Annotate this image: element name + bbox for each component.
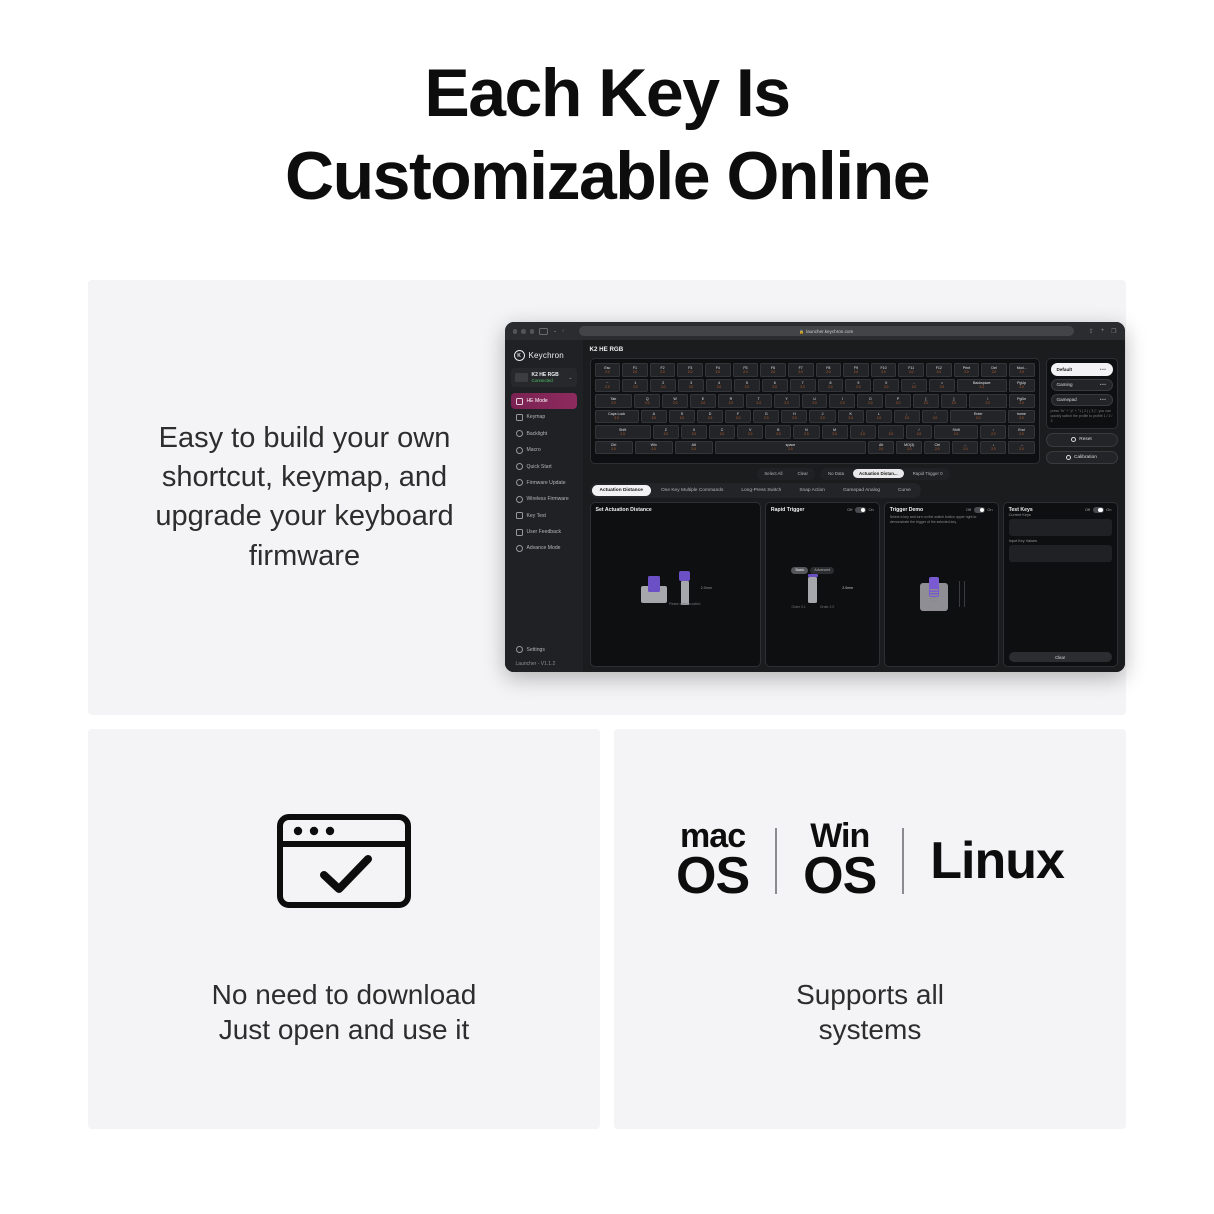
keyboard-key[interactable]: Ctrl2.0 [595,441,633,455]
os-logo-winos: Win OS [777,821,902,900]
tabs-icon[interactable]: ❐ [1111,328,1116,335]
macos-suffix: OS [676,853,749,901]
quick-start-icon [516,463,523,470]
brand-logo: K Keychron [511,347,577,368]
key-actuation-value: 2.0 [633,371,637,374]
winos-suffix: OS [803,853,876,901]
keyboard-key[interactable]: ~2.0 [595,379,621,393]
keyboard-key[interactable]: O2.0 [857,394,883,408]
keyboard-key[interactable]: W2.0 [662,394,688,408]
keyboard-key[interactable]: -2.0 [901,379,927,393]
keyboard-key[interactable]: '2.0 [922,410,948,424]
keyboard-key[interactable]: Shift2.0 [595,425,651,439]
keyboard-key[interactable]: F52.0 [733,363,759,377]
gear-icon [516,646,523,653]
keyboard-key[interactable]: B2.0 [765,425,791,439]
keyboard-layout[interactable]: Esc2.0F12.0F22.0F32.0F42.0F52.0F62.0F72.… [590,358,1040,464]
key-actuation-value: 2.0 [720,433,724,436]
key-actuation-value: 2.0 [748,433,752,436]
current-keys-field[interactable] [1009,519,1112,536]
rapid-trigger-footer: Order 0.1 Order 2.0 [791,605,834,609]
card-supports-all-systems: mac OS Win OS Linux Supports all systems [614,729,1126,1129]
device-selector[interactable]: K2 HE RGB Connected ⌄ [511,368,577,387]
data-group: No Data Actuation Distan... Rapid Trigge… [820,468,950,480]
mode-basic[interactable]: Basic [791,567,808,574]
key-actuation-value: 2.0 [963,448,967,451]
input-key-values-field[interactable] [1009,545,1112,562]
key-actuation-value: 2.0 [792,417,796,420]
rapid-trigger-modes: Basic Advanced [791,567,834,574]
keyboard-key[interactable]: F82.0 [816,363,842,377]
sidebar-item-user-feedback[interactable]: User Feedback [511,524,577,539]
trigger-demo-switch-illustration [917,577,951,611]
chevron-down-icon[interactable]: ⌄ [553,328,557,334]
caption-line-2: systems [796,1012,944,1047]
keyboard-key[interactable]: Caps Lock2.0 [595,410,639,424]
rail [959,581,960,607]
rapid-trigger-value: 2.0mm [842,586,853,590]
key-actuation-value: 2.0 [1019,448,1023,451]
keyboard-key[interactable]: ,2.0 [850,425,876,439]
firmware-update-icon [516,479,523,486]
user-feedback-icon [516,529,523,536]
switch-travel-illustration[interactable]: Please select a switch [677,571,693,605]
os-logos: mac OS Win OS Linux [650,811,1090,911]
rail [964,581,965,607]
key-actuation-value: 2.0 [633,386,637,389]
keyboard-key[interactable]: /2.0 [906,425,932,439]
device-info: K2 HE RGB Connected [532,372,565,384]
key-test-icon [516,512,523,519]
device-status: Connected [532,378,553,383]
panel-trigger-demo: Trigger Demo Off On Select a key and tur… [884,502,999,668]
sidebar-item-quick-start[interactable]: Quick Start [511,459,577,474]
tab-snap-action[interactable]: Snap Action [791,485,833,496]
keyboard-row: Esc2.0F12.0F22.0F32.0F42.0F52.0F62.0F72.… [595,363,1035,377]
keyboard-key[interactable]: 42.0 [706,379,732,393]
key-actuation-value: 2.0 [856,386,860,389]
key-actuation-value: 2.0 [689,386,693,389]
keyboard-key[interactable]: 22.0 [650,379,676,393]
key-actuation-value: 2.0 [717,386,721,389]
key-actuation-value: 2.0 [729,402,733,405]
sidebar-item-keymap[interactable]: Keymap [511,410,577,425]
key-actuation-value: 2.0 [937,371,941,374]
key-actuation-value: 2.0 [798,371,802,374]
keyboard-key[interactable]: K2.0 [838,410,864,424]
browser-window-check-icon [274,811,414,911]
key-actuation-value: 2.0 [692,448,696,451]
keyboard-key[interactable]: M2.0 [822,425,848,439]
keyboard-key[interactable]: D2.0 [697,410,723,424]
toggle-off-label: Off [966,507,971,512]
key-actuation-value: 2.0 [788,448,792,451]
keyboard-row: Tab2.0Q2.0W2.0E2.0R2.0T2.0Y2.0U2.0I2.0O2… [595,394,1035,408]
calibration-icon [1066,455,1071,460]
keyboard-key[interactable]: ↓2.0 [980,441,1006,455]
reset-button[interactable]: Reset [1046,433,1118,446]
keychron-logo-icon: K [514,350,525,361]
key-actuation-value: 2.0 [764,417,768,420]
keymap-icon [516,414,523,421]
key-actuation-value: 2.0 [1019,371,1023,374]
toggle-on-label: On [1106,507,1111,512]
actuation-caption: Please select a switch [669,602,700,606]
key-actuation-value: 2.0 [645,402,649,405]
actuation-value: 2.0mm [701,586,712,590]
key-actuation-value: 2.0 [708,417,712,420]
keyboard-key[interactable]: F122.0 [926,363,952,377]
keyboard-key[interactable]: 92.0 [845,379,871,393]
profile-label: Default [1057,367,1073,372]
rapid-trigger-control: Basic Advanced Order 0.1 Order 2.0 [791,567,834,609]
chevron-down-icon[interactable]: ⌄ [568,375,572,381]
panel-body: Please select a switch 2.0mm [596,513,755,663]
keyboard-toolbar: Select All Clear No Data Actuation Dista… [590,468,1118,480]
keyboard-key[interactable]: X2.0 [681,425,707,439]
calibration-label: Calibration [1074,455,1097,460]
share-icon[interactable]: ⇪ [1089,328,1094,335]
keyboard-key[interactable]: \2.0 [969,394,1007,408]
maximize-icon[interactable] [530,329,535,334]
keyboard-key[interactable]: PgUp2.0 [1009,379,1035,393]
keyboard-key[interactable]: E2.0 [690,394,716,408]
minimize-icon[interactable] [521,329,526,334]
keyboard-key[interactable]: Win2.0 [635,441,673,455]
keyboard-key[interactable]: Del2.0 [981,363,1007,377]
app-version: Launcher - V1.1.2 [511,657,577,667]
device-name: K2 HE RGB [532,372,559,378]
current-keys-label: Current Keys [1009,513,1112,517]
key-actuation-value: 2.0 [986,402,990,405]
selection-group: Select All Clear [757,468,816,480]
caption-line-1: Supports all [796,977,944,1012]
key-actuation-value: 2.0 [661,386,665,389]
panel-header: Trigger Demo Off On [890,507,993,513]
key-actuation-value: 2.0 [812,402,816,405]
clear-selection-button[interactable]: Clear [791,469,814,478]
key-actuation-value: 2.0 [954,433,958,436]
window-controls[interactable] [513,329,535,334]
feature-tabs: Actuation Distance One Key Multiple Comm… [590,483,921,498]
lock-icon: 🔒 [799,329,804,334]
promo-text: Easy to build your own shortcut, keymap,… [88,419,503,576]
keyboard-key[interactable]: Mod...2.0 [1009,363,1035,377]
keyboard-key[interactable]: S2.0 [669,410,695,424]
keyboard-key[interactable]: F2.0 [725,410,751,424]
key-actuation-value: 2.0 [917,433,921,436]
key-actuation-value: 2.0 [776,433,780,436]
profile-label: Gaming [1057,382,1073,387]
key-actuation-value: 2.0 [1019,433,1023,436]
feature-panels: Set Actuation Distance Pl [590,502,1118,668]
toggle-switch[interactable] [1093,507,1104,513]
tab-one-key-multiple-commands[interactable]: One Key Multiple Commands [653,485,731,496]
app-main: K2 HE RGB Esc2.0F12.0F22.0F32.0F42.0F52.… [583,340,1125,672]
page-title-line-1: Each Key Is [40,52,1174,135]
os-logo-macos: mac OS [650,821,775,900]
key-actuation-value: 2.0 [964,371,968,374]
keyboard-key[interactable]: ←2.0 [952,441,978,455]
input-key-values-label: Input Key Values [1009,539,1112,543]
keyboard-row: Caps Lock2.0A2.0S2.0D2.0F2.0G2.0H2.0J2.0… [595,410,1035,424]
sidebar-item-label: Quick Start [527,464,552,470]
key-actuation-value: 2.0 [743,371,747,374]
keyboard-key[interactable]: Ctrl2.0 [924,441,950,455]
keyboard-key[interactable]: 12.0 [622,379,648,393]
key-actuation-value: 2.0 [848,417,852,420]
key-actuation-value: 2.0 [620,433,624,436]
keyboard-key[interactable]: F102.0 [871,363,897,377]
key-actuation-value: 2.0 [896,402,900,405]
key-actuation-value: 2.0 [877,417,881,420]
app-body: K Keychron K2 HE RGB Connected ⌄ [505,340,1125,672]
key-actuation-value: 2.0 [745,386,749,389]
keyboard-key[interactable]: Z2.0 [653,425,679,439]
toggle-switch[interactable] [974,507,985,513]
select-all-button[interactable]: Select All [758,469,788,478]
app-sidebar: K Keychron K2 HE RGB Connected ⌄ [505,340,583,672]
sidebar-item-label: HE Mode [527,398,548,404]
key-actuation-value: 2.0 [772,386,776,389]
keyboard-key[interactable]: 82.0 [818,379,844,393]
keyboard-key[interactable]: 72.0 [790,379,816,393]
keyboard-key[interactable]: MO(3)2.0 [896,441,922,455]
profile-item-default[interactable]: Default ••• [1051,363,1113,375]
reset-label: Reset [1079,437,1092,442]
keyboard-key[interactable]: R2.0 [718,394,744,408]
key-actuation-value: 2.0 [652,417,656,420]
sidebar-item-label: User Feedback [527,529,562,535]
key-actuation-value: 2.0 [909,371,913,374]
key-actuation-value: 2.0 [757,402,761,405]
profile-item-gaming[interactable]: Gaming ••• [1051,379,1113,391]
keyboard-key[interactable]: N2.0 [793,425,819,439]
sidebar-item-key-test[interactable]: Key Test [511,508,577,523]
tab-actuation-distance[interactable]: Actuation Distance [592,485,651,496]
panel-set-actuation-distance: Set Actuation Distance Pl [590,502,761,668]
key-actuation-value: 2.0 [940,386,944,389]
actuation-chip[interactable]: Actuation Distan... [853,469,904,478]
key-actuation-value: 2.0 [991,448,995,451]
page-title-line-2: Customizable Online [40,135,1174,218]
keyboard-key[interactable]: ↑2.0 [980,425,1006,439]
key-actuation-value: 2.0 [605,371,609,374]
chevron-left-icon[interactable]: ‹ [562,328,564,334]
keyboard-key[interactable]: space2.0 [715,441,866,455]
foot-left-label: Order 0.1 [791,605,805,609]
keyboard-key[interactable]: .2.0 [878,425,904,439]
switch-stem [648,576,660,592]
key-actuation-value: 2.0 [688,371,692,374]
url-text: launcher.keychron.com [806,329,853,334]
tab-curve[interactable]: Curve [890,485,919,496]
device-thumbnail-icon [515,373,528,382]
switch-cap [679,571,690,581]
keyboard-key[interactable]: Print2.0 [954,363,980,377]
mode-advanced[interactable]: Advanced [810,567,834,574]
sidebar-item-label: Key Test [527,513,546,519]
keyboard-key[interactable]: Q2.0 [634,394,660,408]
card-caption: Supports all systems [796,977,944,1047]
keyboard-key[interactable]: I2.0 [829,394,855,408]
key-actuation-value: 2.0 [991,433,995,436]
backlight-icon [516,430,523,437]
keyboard-key[interactable]: Alt2.0 [868,441,894,455]
keyboard-key[interactable]: End2.0 [1008,425,1034,439]
profile-menu-icon[interactable]: ••• [1100,382,1107,387]
advance-mode-icon [516,545,523,552]
he-mode-icon [516,398,523,405]
keyboard-key[interactable]: ]2.0 [941,394,967,408]
sidebar-nav: HE Mode Keymap Backlight Macro [511,393,577,556]
profile-menu-icon[interactable]: ••• [1100,397,1107,402]
keyboard-key[interactable]: 02.0 [873,379,899,393]
key-actuation-value: 2.0 [611,448,615,451]
keyboard-key[interactable]: P2.0 [885,394,911,408]
sidebar-item-he-mode[interactable]: HE Mode [511,393,577,408]
keyboard-row: Shift2.0Z2.0X2.0C2.0V2.0B2.0N2.0M2.0,2.0… [595,425,1035,439]
keyboard-area: Esc2.0F12.0F22.0F32.0F42.0F52.0F62.0F72.… [590,358,1118,464]
sidebar-item-backlight[interactable]: Backlight [511,426,577,441]
panel-body [890,525,993,662]
no-data-chip[interactable]: No Data [822,469,850,478]
rapid-trigger-chip[interactable]: Rapid Trigger 0 [907,469,949,478]
key-actuation-value: 2.0 [832,433,836,436]
keyboard-key[interactable]: F92.0 [843,363,869,377]
key-actuation-value: 2.0 [980,386,984,389]
keyboard-key[interactable]: F42.0 [705,363,731,377]
sidebar-item-wireless-firmware[interactable]: Wireless Firmware [511,492,577,507]
panel-title: Trigger Demo [890,507,923,513]
sidebar-item-label: Firmware Update [527,480,566,486]
keyboard-key[interactable]: F112.0 [898,363,924,377]
keyboard-key[interactable]: U2.0 [802,394,828,408]
switch-spring [930,589,938,603]
keyboard-key[interactable]: G2.0 [753,410,779,424]
trigger-demo-description: Select a key and turn on the switch butt… [890,515,993,525]
sidebar-item-advance-mode[interactable]: Advance Mode [511,541,577,556]
key-actuation-value: 2.0 [673,402,677,405]
sidebar-item-label: Backlight [527,431,548,437]
key-actuation-value: 2.0 [716,371,720,374]
page-title: Each Key Is Customizable Online [0,0,1214,218]
keyboard-key[interactable]: Backspace2.0 [957,379,1007,393]
keyboard-key[interactable]: F32.0 [677,363,703,377]
keyboard-key[interactable]: A2.0 [641,410,667,424]
caption-line-1: No need to download [212,977,477,1012]
test-keys-clear-button[interactable]: Clear [1009,652,1112,662]
key-actuation-value: 2.0 [736,417,740,420]
keyboard-key[interactable]: →2.0 [1008,441,1034,455]
key-actuation-value: 2.0 [804,433,808,436]
card-no-download: No need to download Just open and use it [88,729,600,1129]
sidebar-toggle-icon[interactable] [539,328,548,335]
main-title: K2 HE RGB [590,346,1118,353]
toggle-on-label: On [868,507,873,512]
key-actuation-value: 2.0 [933,417,937,420]
tab-long-press-switch[interactable]: Long-Press Switch [733,485,789,496]
key-actuation-value: 2.0 [854,371,858,374]
key-actuation-value: 2.0 [868,402,872,405]
keyboard-key[interactable]: F22.0 [650,363,676,377]
key-actuation-value: 2.0 [935,448,939,451]
key-actuation-value: 2.0 [905,417,909,420]
card-caption: No need to download Just open and use it [212,977,477,1047]
sidebar-item-firmware-update[interactable]: Firmware Update [511,475,577,490]
profile-menu-icon[interactable]: ••• [1100,367,1107,372]
keyboard-key[interactable]: Shift2.0 [934,425,978,439]
key-actuation-value: 2.0 [861,433,865,436]
key-actuation-value: 2.0 [826,371,830,374]
profile-item-gamepad[interactable]: Gamepad ••• [1051,394,1113,406]
keyboard-key[interactable]: 32.0 [678,379,704,393]
key-actuation-value: 2.0 [680,417,684,420]
keyboard-key[interactable]: Enter2.0 [950,410,1006,424]
keyboard-key[interactable]: V2.0 [737,425,763,439]
macro-icon [516,447,523,454]
keyboard-key[interactable]: Y2.0 [774,394,800,408]
keyboard-key[interactable]: Alt2.0 [675,441,713,455]
keyboard-row: Ctrl2.0Win2.0Alt2.0space2.0Alt2.0MO(3)2.… [595,441,1035,455]
url-bar[interactable]: 🔒 launcher.keychron.com [579,326,1074,336]
key-actuation-value: 2.0 [907,448,911,451]
keyboard-key[interactable]: Esc2.0 [595,363,621,377]
keyboard-key[interactable]: 62.0 [762,379,788,393]
key-actuation-value: 2.0 [771,371,775,374]
keyboard-key[interactable]: [2.0 [913,394,939,408]
keyboard-key[interactable]: F62.0 [760,363,786,377]
wireless-firmware-icon [516,496,523,503]
panel-rapid-trigger: Rapid Trigger Off On Basi [765,502,880,668]
key-actuation-value: 2.0 [889,433,893,436]
keyboard-key[interactable]: J2.0 [809,410,835,424]
keyboard-key[interactable]: Tab2.0 [595,394,633,408]
tab-gamepad-analog[interactable]: Gamepad Analog [835,485,888,496]
key-actuation-value: 2.0 [800,386,804,389]
brand-name: Keychron [529,351,564,360]
keyboard-key[interactable]: C2.0 [709,425,735,439]
keyboard-key[interactable]: ;2.0 [894,410,920,424]
keyboard-key[interactable]: H2.0 [781,410,807,424]
key-actuation-value: 2.0 [651,448,655,451]
keyboard-key[interactable]: F12.0 [622,363,648,377]
key-actuation-value: 2.0 [784,402,788,405]
toggle-off-label: Off [847,507,852,512]
key-actuation-value: 2.0 [840,402,844,405]
key-actuation-value: 2.0 [879,448,883,451]
sidebar-item-macro[interactable]: Macro [511,443,577,458]
foot-right-label: Order 2.0 [820,605,834,609]
keyboard-key[interactable]: T2.0 [746,394,772,408]
key-actuation-value: 2.0 [664,433,668,436]
keyboard-key[interactable]: =2.0 [929,379,955,393]
sidebar-item-settings[interactable]: Settings [511,642,577,657]
keyboard-key[interactable]: L2.0 [866,410,892,424]
calibration-button[interactable]: Calibration [1046,451,1118,464]
keyboard-key[interactable]: 52.0 [734,379,760,393]
trigger-demo-toggle[interactable]: Off On [966,507,993,513]
keyboard-key[interactable]: home2.0 [1008,410,1034,424]
key-actuation-value: 2.0 [912,386,916,389]
rapid-trigger-slider[interactable] [808,577,817,603]
key-actuation-value: 2.0 [701,402,705,405]
keyboard-key[interactable]: PgDn2.0 [1009,394,1035,408]
plus-icon[interactable]: + [1101,328,1105,334]
key-actuation-value: 2.0 [884,386,888,389]
close-icon[interactable] [513,329,518,334]
keyboard-key[interactable]: F72.0 [788,363,814,377]
